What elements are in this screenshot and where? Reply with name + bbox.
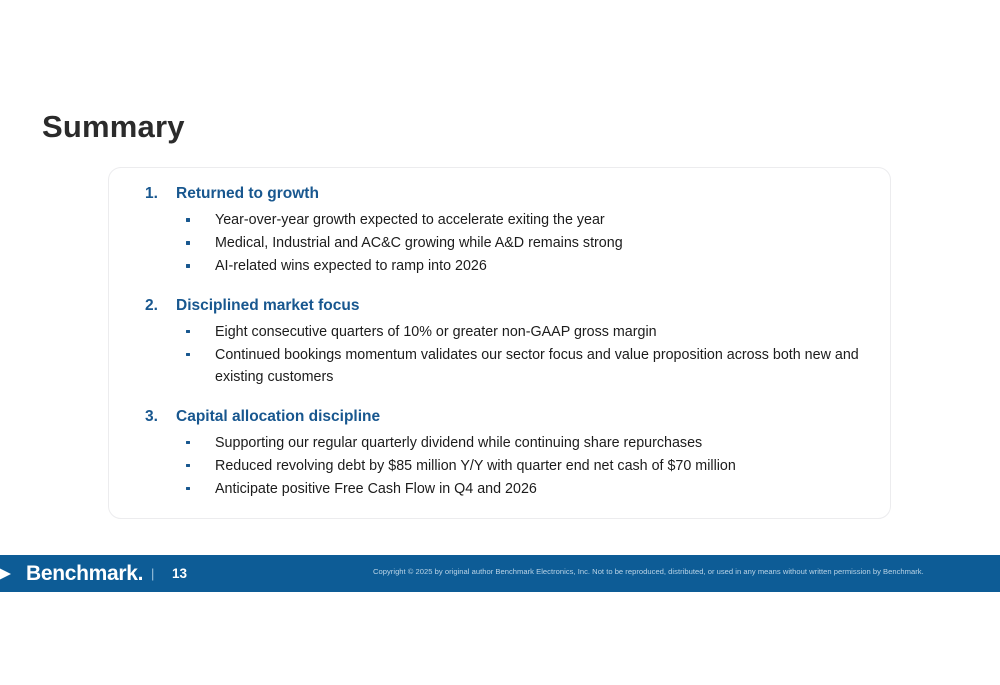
brand-logo-text: Benchmark. [26, 563, 143, 584]
list-item: Continued bookings momentum validates ou… [109, 344, 890, 389]
page-title: Summary [42, 107, 185, 147]
section-disciplined-market-focus: 2. Disciplined market focus Eight consec… [109, 295, 890, 389]
copyright-text: Copyright © 2025 by original author Benc… [373, 567, 983, 577]
section-number: 2. [145, 295, 167, 317]
brand-logo: Benchmark. [0, 555, 143, 592]
bullet-list: Eight consecutive quarters of 10% or gre… [109, 321, 890, 389]
section-number: 1. [145, 183, 167, 205]
bullet-list: Supporting our regular quarterly dividen… [109, 432, 890, 501]
bullet-text: Reduced revolving debt by $85 million Y/… [215, 458, 736, 474]
section-heading-label: Disciplined market focus [147, 295, 359, 317]
section-heading: 3. Capital allocation discipline [109, 406, 890, 428]
bullet-list: Year-over-year growth expected to accele… [109, 209, 890, 278]
section-number: 3. [145, 406, 167, 428]
bullet-dot-icon [186, 218, 190, 222]
list-item: AI-related wins expected to ramp into 20… [109, 255, 890, 278]
slide-canvas: Summary 1. Returned to growth Year-over-… [0, 0, 1000, 685]
section-capital-allocation-discipline: 3. Capital allocation discipline Support… [109, 406, 890, 501]
list-item: Supporting our regular quarterly dividen… [109, 432, 890, 455]
footer-separator: | [151, 566, 154, 581]
bullet-dot-icon [186, 487, 190, 491]
bullet-text: Continued bookings momentum validates ou… [215, 347, 859, 386]
section-heading: 1. Returned to growth [109, 183, 890, 205]
section-heading-label: Returned to growth [147, 183, 319, 205]
bullet-text: Supporting our regular quarterly dividen… [215, 435, 702, 451]
content-card: 1. Returned to growth Year-over-year gro… [108, 167, 891, 519]
list-item: Reduced revolving debt by $85 million Y/… [109, 455, 890, 478]
list-item: Year-over-year growth expected to accele… [109, 209, 890, 232]
bullet-dot-icon [186, 353, 190, 357]
section-list: 1. Returned to growth Year-over-year gro… [109, 168, 890, 500]
section-heading-label: Capital allocation discipline [147, 406, 380, 428]
bullet-text: Medical, Industrial and AC&C growing whi… [215, 235, 623, 251]
bullet-text: Anticipate positive Free Cash Flow in Q4… [215, 481, 537, 497]
bullet-text: Eight consecutive quarters of 10% or gre… [215, 324, 657, 340]
bullet-text: AI-related wins expected to ramp into 20… [215, 258, 487, 274]
bullet-dot-icon [186, 464, 190, 468]
section-heading: 2. Disciplined market focus [109, 295, 890, 317]
list-item: Eight consecutive quarters of 10% or gre… [109, 321, 890, 344]
bullet-dot-icon [186, 441, 190, 445]
bullet-dot-icon [186, 264, 190, 268]
list-item: Anticipate positive Free Cash Flow in Q4… [109, 478, 890, 501]
list-item: Medical, Industrial and AC&C growing whi… [109, 232, 890, 255]
page-number: 13 [172, 566, 187, 581]
section-returned-to-growth: 1. Returned to growth Year-over-year gro… [109, 183, 890, 278]
bullet-dot-icon [186, 241, 190, 245]
bullet-text: Year-over-year growth expected to accele… [215, 212, 605, 228]
bullet-dot-icon [186, 330, 190, 334]
triangle-right-icon [0, 564, 24, 584]
